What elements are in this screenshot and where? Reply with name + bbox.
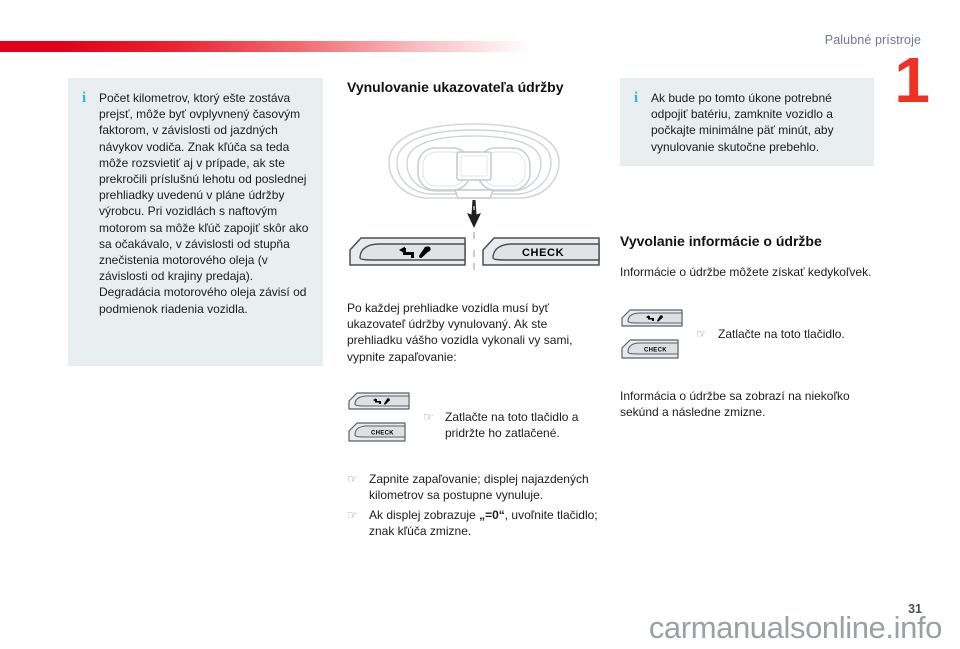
right-section-heading: Vyvolanie informácie o údržbe [620,232,874,250]
left-info-callout: i Počet kilometrov, ktorý ešte zostáva p… [68,78,323,366]
middle-bullet-1: Zapnite zapaľovanie; displej najazdených… [369,471,602,503]
hand-pointer-icon: ☞ [347,507,369,523]
middle-intro-text: Po každej prehliadke vozidla musí byť uk… [347,300,602,365]
check-button-label-small: CHECK [644,348,667,354]
instrument-cluster-illustration: CHECK [347,110,602,280]
hand-pointer-icon: ☞ [347,471,369,487]
info-icon: i [82,90,99,106]
info-icon: i [634,90,651,106]
middle-step-caption: Zatlačte na toto tlačidlo a pridržte ho … [445,409,602,441]
middle-bullet-list: ☞ Zapnite zapaľovanie; displej najazdený… [347,471,602,540]
stalk-buttons-small: CHECK [620,308,696,366]
hand-pointer-icon: ☞ [696,326,718,342]
right-outro-text: Informácia o údržbe sa zobrazí na niekoľ… [620,388,874,420]
bullet-2-before: Ak displej zobrazuje [369,508,479,522]
list-item: ☞ Zapnite zapaľovanie; displej najazdený… [347,471,602,503]
middle-button-step: CHECK ☞ Zatlačte na toto tlačidlo a prid… [347,391,602,449]
right-info-callout: i Ak bude po tomto úkone potrebné odpoji… [620,78,874,166]
svg-text:CHECK: CHECK [522,247,564,259]
middle-column: Vynulovanie ukazovateľa údržby [347,78,602,544]
stalk-buttons-small: CHECK [347,391,423,449]
right-intro-text: Informácie o údržbe môžete získať kedyko… [620,264,874,280]
middle-section-heading: Vynulovanie ukazovateľa údržby [347,78,602,96]
list-item: ☞ Ak displej zobrazuje „=0“, uvoľnite tl… [347,507,602,539]
right-info-text: Ak bude po tomto úkone potrebné odpojiť … [651,90,860,155]
header-accent-bar [0,41,530,52]
left-column: i Počet kilometrov, ktorý ešte zostáva p… [68,78,323,366]
hand-pointer-icon: ☞ [423,409,445,425]
right-button-step: CHECK ☞ Zatlačte na toto tlačidlo. [620,308,874,366]
check-button-label-small: CHECK [371,430,394,436]
middle-bullet-2: Ak displej zobrazuje „=0“, uvoľnite tlač… [369,507,602,539]
right-step-caption: Zatlačte na toto tlačidlo. [718,326,874,342]
right-column: i Ak bude po tomto úkone potrebné odpoji… [620,78,874,421]
watermark: carmanualsonline.info [649,610,942,646]
left-info-text: Počet kilometrov, ktorý ešte zostáva pre… [99,90,309,317]
chapter-number: 1 [894,52,928,108]
bullet-2-bold: „=0“ [479,508,505,522]
